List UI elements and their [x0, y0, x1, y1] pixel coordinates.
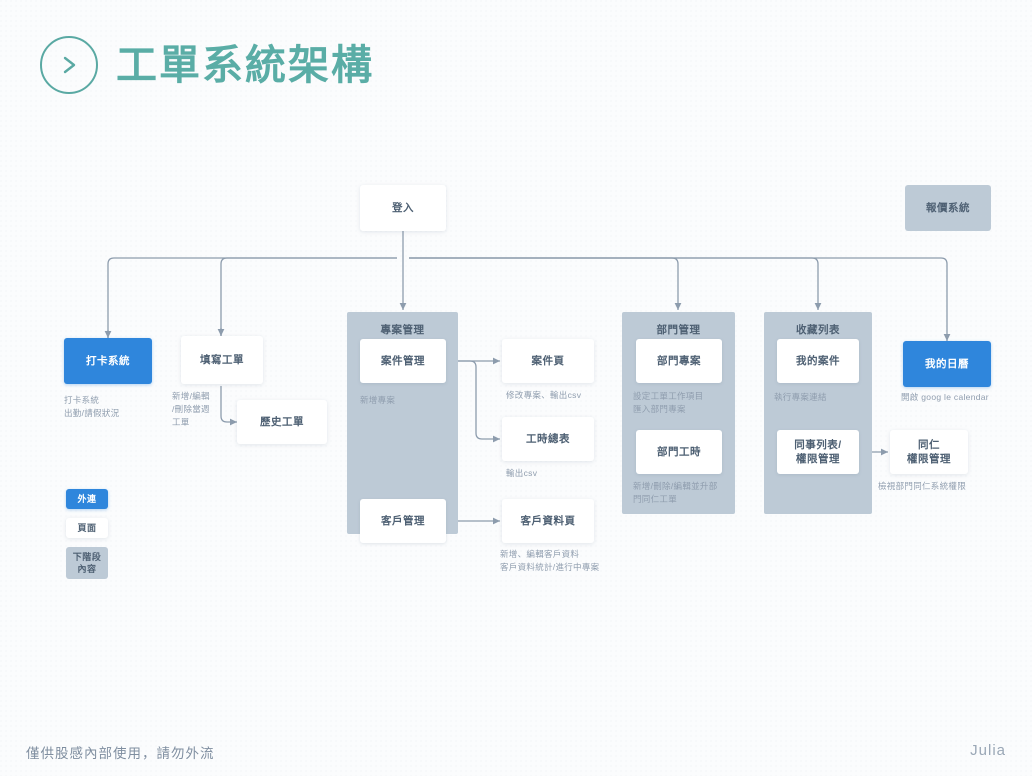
note-customer-data-page: 新增、編輯客戶資料 客戶資料統計/進行中專案 [500, 548, 680, 574]
node-label: 登入 [392, 201, 414, 215]
node-department-project[interactable]: 部門專案 [636, 339, 722, 383]
legend-label: 下階段 內容 [73, 551, 102, 575]
node-fill-worksheet[interactable]: 填寫工單 [181, 336, 263, 384]
note-department-project: 設定工單工作項目 匯入部門專案 [633, 390, 737, 416]
chevron-right-circle-icon [40, 36, 98, 94]
node-login[interactable]: 登入 [360, 185, 446, 231]
node-colleague-permission[interactable]: 同事列表/ 權限管理 [777, 430, 859, 474]
footer-author: Julia [970, 742, 1006, 759]
page-title: 工單系統架構 [116, 45, 374, 86]
group-title: 部門管理 [622, 322, 735, 337]
legend-label: 頁面 [77, 522, 96, 534]
node-staff-permission-management[interactable]: 同仁 權限管理 [890, 430, 968, 474]
node-label: 案件頁 [532, 354, 565, 368]
slide-header: 工單系統架構 [40, 36, 374, 94]
legend: 外連 頁面 下階段 內容 [66, 489, 108, 588]
note-attendance-system: 打卡系統 出勤/請假狀況 [64, 394, 184, 420]
legend-item-next-phase: 下階段 內容 [66, 547, 108, 579]
node-case-page[interactable]: 案件頁 [502, 339, 594, 383]
legend-item-external: 外連 [66, 489, 108, 509]
node-label: 打卡系統 [86, 354, 130, 368]
node-label: 填寫工單 [200, 353, 244, 367]
node-label: 我的案件 [796, 354, 840, 368]
connector-lines [0, 0, 1032, 776]
node-label: 部門專案 [657, 354, 701, 368]
node-worksheet-history[interactable]: 歷史工單 [237, 400, 327, 444]
footer-confidentiality-notice: 僅供股感內部使用，請勿外流 [26, 742, 215, 762]
note-case-management: 新增專案 [360, 394, 450, 407]
node-label: 案件管理 [381, 354, 425, 368]
slide-canvas: 工單系統架構 [0, 0, 1032, 776]
node-attendance-system[interactable]: 打卡系統 [64, 338, 152, 384]
note-my-cases: 執行專案連結 [774, 391, 874, 404]
group-title: 收藏列表 [764, 322, 872, 337]
node-label: 客戶資料頁 [521, 514, 576, 528]
note-case-page: 修改專案、輸出csv [506, 389, 636, 402]
node-label: 歷史工單 [260, 415, 304, 429]
node-label: 客戶管理 [381, 514, 425, 528]
node-my-calendar[interactable]: 我的日曆 [903, 341, 991, 387]
node-label: 同仁 權限管理 [907, 438, 951, 466]
node-customer-data-page[interactable]: 客戶資料頁 [502, 499, 594, 543]
note-fill-worksheet: 新增/編輯 /刪除當週 工單 [172, 390, 228, 430]
note-staff-permission-management: 檢視部門同仁系統權限 [878, 480, 1028, 493]
node-label: 我的日曆 [925, 357, 969, 371]
node-department-worklog[interactable]: 部門工時 [636, 430, 722, 474]
note-my-calendar: 開啟 goog le calendar [901, 391, 1032, 404]
legend-item-page: 頁面 [66, 518, 108, 538]
note-worklog-summary: 輸出csv [506, 467, 626, 480]
node-my-cases[interactable]: 我的案件 [777, 339, 859, 383]
note-department-worklog: 新增/刪除/編輯並升部 門同仁工單 [633, 480, 737, 506]
group-title: 專案管理 [347, 322, 458, 337]
node-label: 部門工時 [657, 445, 701, 459]
legend-label: 外連 [77, 493, 96, 505]
node-customer-management[interactable]: 客戶管理 [360, 499, 446, 543]
node-worklog-summary[interactable]: 工時總表 [502, 417, 594, 461]
node-quotation-system[interactable]: 報價系統 [905, 185, 991, 231]
node-case-management[interactable]: 案件管理 [360, 339, 446, 383]
node-label: 報價系統 [926, 201, 970, 215]
node-label: 工時總表 [526, 432, 570, 446]
node-label: 同事列表/ 權限管理 [794, 438, 841, 466]
